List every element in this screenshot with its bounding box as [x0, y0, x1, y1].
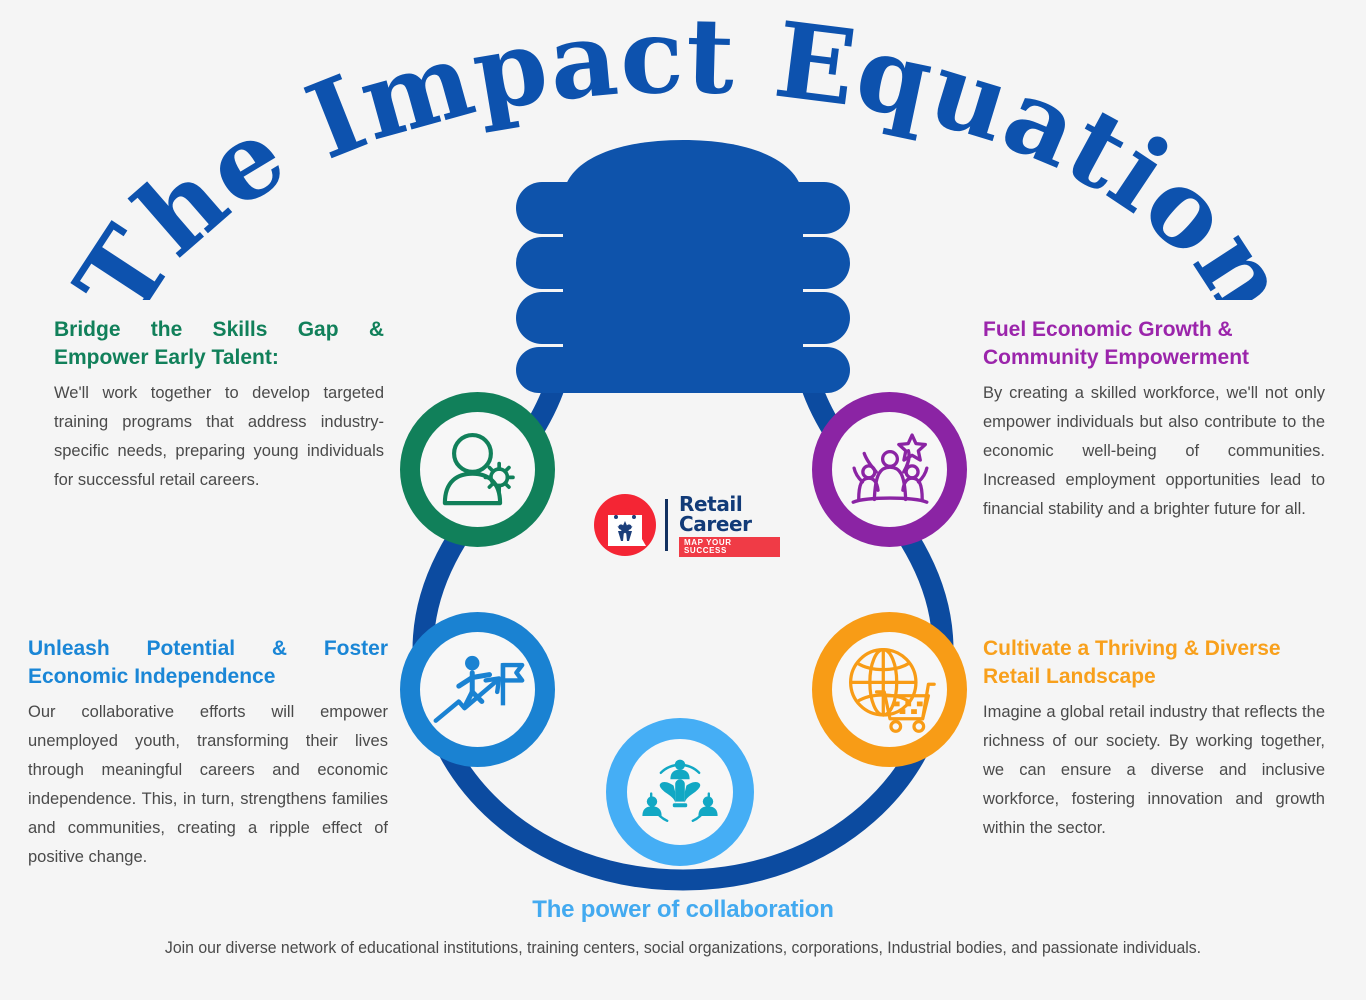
footer: The power of collaboration Join our dive… [0, 896, 1366, 962]
block-unleash-potential-body: Our collaborative efforts will empower u… [28, 698, 388, 871]
block-skills-gap-heading: Bridge the Skills Gap & Empower Early Ta… [54, 316, 384, 371]
logo-mark-svg [594, 494, 656, 556]
block-economic-growth: Fuel Economic Growth & Community Empower… [983, 316, 1325, 524]
globe-cart-icon [842, 642, 938, 738]
shopping-bag-star-icon [594, 494, 656, 556]
block-retail-landscape-heading: Cultivate a Thriving & Diverse Retail La… [983, 635, 1325, 690]
block-skills-gap: Bridge the Skills Gap & Empower Early Ta… [54, 316, 384, 495]
block-skills-gap-body: We'll work together to develop targeted … [54, 379, 384, 495]
infographic-canvas: The Impact Equation [0, 0, 1366, 1000]
footer-subtitle: Join our diverse network of educational … [48, 934, 1318, 962]
block-unleash-potential: Unleash Potential & Foster Economic Inde… [28, 635, 388, 872]
logo-wordmark: Retail Career MAP YOUR SUCCESS [679, 494, 780, 557]
node-unleash-potential[interactable] [400, 612, 555, 767]
node-economic-growth[interactable] [812, 392, 967, 547]
block-economic-growth-body: By creating a skilled workforce, we'll n… [983, 379, 1325, 523]
community-star-icon [844, 424, 936, 516]
logo-brand-line1: Retail [679, 494, 780, 514]
node-collaboration[interactable] [606, 718, 754, 866]
logo-tagline: MAP YOUR SUCCESS [679, 537, 780, 557]
retail-career-logo: Retail Career MAP YOUR SUCCESS [594, 489, 780, 561]
block-retail-landscape-body: Imagine a global retail industry that re… [983, 698, 1325, 842]
person-climbing-flag-icon [430, 642, 526, 738]
node-retail-landscape[interactable] [812, 612, 967, 767]
user-gear-icon [432, 424, 524, 516]
node-skills-gap[interactable] [400, 392, 555, 547]
logo-brand-line2: Career [679, 514, 780, 534]
footer-title: The power of collaboration [0, 896, 1366, 924]
bulb-screw-base [516, 140, 850, 393]
logo-divider [665, 499, 668, 551]
collaboration-hands-icon [640, 752, 720, 832]
block-unleash-potential-heading: Unleash Potential & Foster Economic Inde… [28, 635, 388, 690]
block-retail-landscape: Cultivate a Thriving & Diverse Retail La… [983, 635, 1325, 843]
block-economic-growth-heading: Fuel Economic Growth & Community Empower… [983, 316, 1325, 371]
